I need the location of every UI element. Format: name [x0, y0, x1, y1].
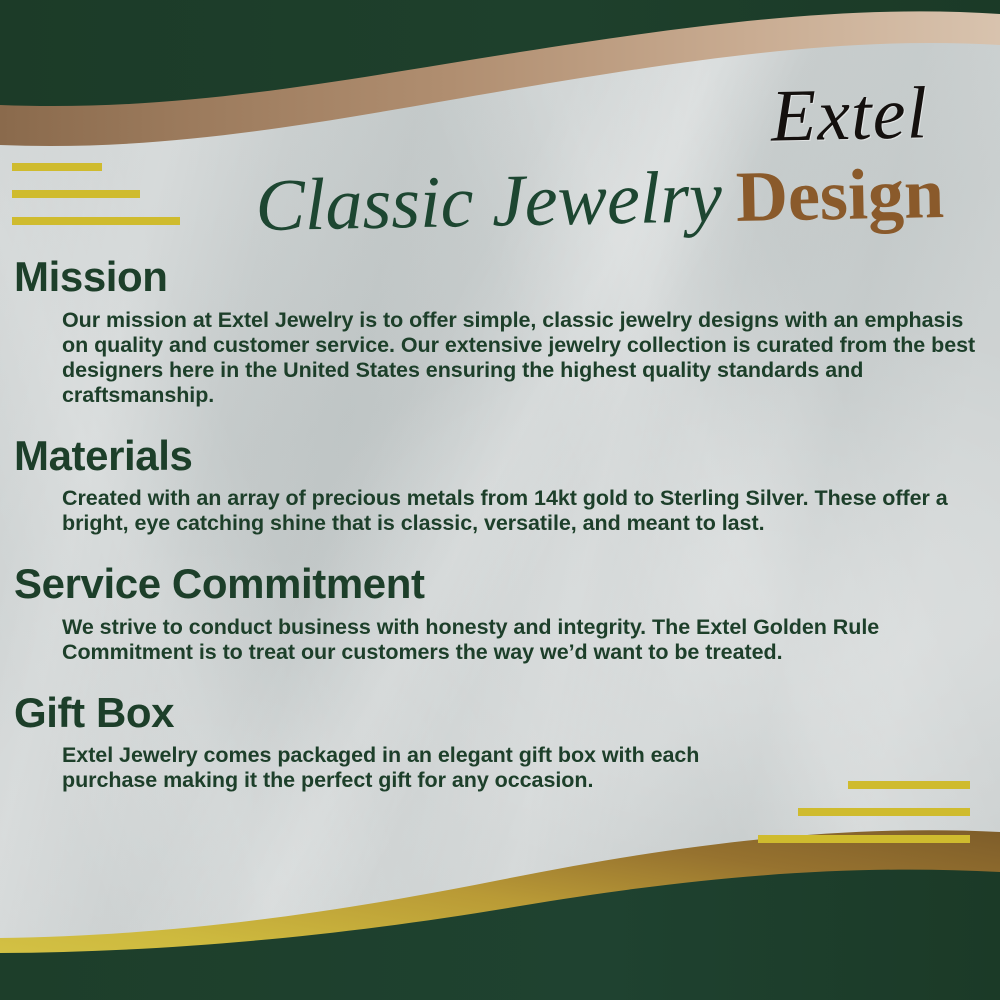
section-heading: Service Commitment [14, 562, 1000, 607]
decor-line [798, 808, 970, 816]
section-body: Extel Jewelry comes packaged in an elega… [62, 743, 782, 793]
section-heading: Mission [14, 255, 1000, 300]
poster-title: Classic JewelryDesign [0, 151, 945, 254]
title-bold-part: Design [735, 153, 945, 237]
decor-line [848, 781, 970, 789]
section-body: Created with an array of precious metals… [62, 486, 978, 536]
section-mission: Mission Our mission at Extel Jewelry is … [0, 255, 1000, 408]
decor-line [758, 835, 970, 843]
decorative-lines-right [758, 781, 970, 862]
section-gift-box: Gift Box Extel Jewelry comes packaged in… [0, 691, 1000, 794]
section-materials: Materials Created with an array of preci… [0, 434, 1000, 537]
section-body: Our mission at Extel Jewelry is to offer… [62, 308, 978, 408]
content-sections: Mission Our mission at Extel Jewelry is … [0, 255, 1000, 793]
section-heading: Gift Box [14, 691, 1000, 736]
section-heading: Materials [14, 434, 1000, 479]
section-service-commitment: Service Commitment We strive to conduct … [0, 562, 1000, 665]
poster-canvas: Extel Classic JewelryDesign Mission Our … [0, 0, 1000, 1000]
brand-logo: Extel [770, 76, 929, 153]
section-body: We strive to conduct business with hones… [62, 615, 978, 665]
title-script-part: Classic Jewelry [255, 156, 723, 247]
